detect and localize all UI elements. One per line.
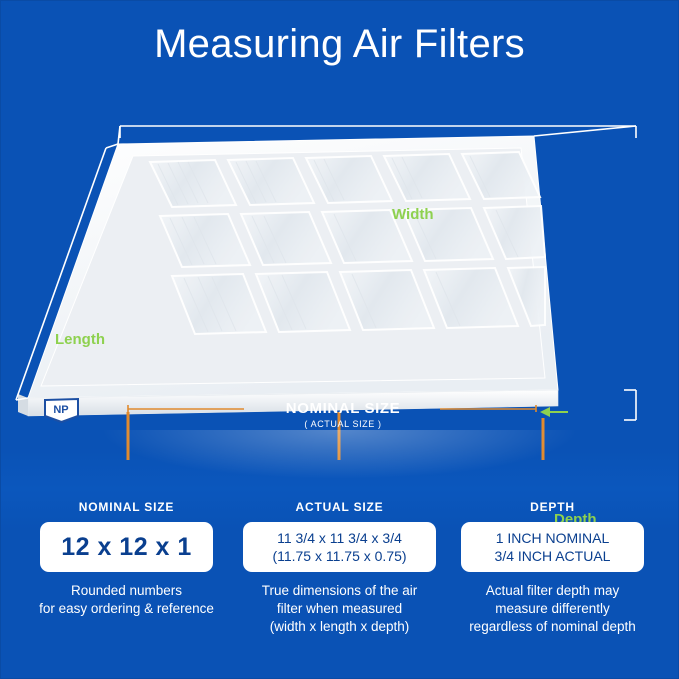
column-desc-line2: for easy ordering & reference <box>20 600 233 618</box>
filter-illustration: NP <box>0 100 679 430</box>
nominal-size-band: NOMINAL SIZE ( ACTUAL SIZE ) <box>243 400 443 429</box>
np-logo-icon: NP <box>45 399 78 422</box>
column-description: Rounded numbers for easy ordering & refe… <box>20 582 233 618</box>
column-heading: DEPTH <box>446 500 659 514</box>
column-description: Actual filter depth may measure differen… <box>446 582 659 636</box>
column-desc-line1: Actual filter depth may <box>446 582 659 600</box>
column-desc-line1: Rounded numbers <box>20 582 233 600</box>
column-desc-line3: regardless of nominal depth <box>446 618 659 636</box>
nominal-size-band-subtitle: ( ACTUAL SIZE ) <box>243 419 443 429</box>
column-desc-line1: True dimensions of the air <box>233 582 446 600</box>
filter-body <box>18 136 558 416</box>
column-value-box: 12 x 12 x 1 <box>40 522 213 572</box>
label-length: Length <box>55 331 105 348</box>
column-value-box: 11 3/4 x 11 3/4 x 3/4 (11.75 x 11.75 x 0… <box>243 522 436 572</box>
column-desc-line2: measure differently <box>446 600 659 618</box>
column-desc-line2: filter when measured <box>233 600 446 618</box>
column-value-line2: (11.75 x 11.75 x 0.75) <box>272 547 406 565</box>
column-value-line1: 11 3/4 x 11 3/4 x 3/4 <box>277 529 402 547</box>
column-depth: DEPTH 1 INCH NOMINAL 3/4 INCH ACTUAL Act… <box>446 500 659 636</box>
bottom-columns: NOMINAL SIZE 12 x 12 x 1 Rounded numbers… <box>0 500 679 679</box>
infographic-root: Measuring Air Filters <box>0 0 679 679</box>
column-value-line2: 3/4 INCH ACTUAL <box>495 547 611 565</box>
column-value-line1: 1 INCH NOMINAL <box>496 529 610 547</box>
column-heading: ACTUAL SIZE <box>233 500 446 514</box>
svg-text:NP: NP <box>53 404 68 416</box>
column-actual-size: ACTUAL SIZE 11 3/4 x 11 3/4 x 3/4 (11.75… <box>233 500 446 636</box>
column-value-line1: 12 x 12 x 1 <box>61 533 192 562</box>
depth-dimension-bracket <box>624 390 636 420</box>
column-nominal-size: NOMINAL SIZE 12 x 12 x 1 Rounded numbers… <box>20 500 233 618</box>
nominal-size-band-title: NOMINAL SIZE <box>243 400 443 417</box>
page-title: Measuring Air Filters <box>0 22 679 67</box>
column-desc-line3: (width x length x depth) <box>233 618 446 636</box>
label-width: Width <box>392 206 434 223</box>
depth-arrow-icon <box>540 407 568 417</box>
column-heading: NOMINAL SIZE <box>20 500 233 514</box>
column-description: True dimensions of the air filter when m… <box>233 582 446 636</box>
column-value-box: 1 INCH NOMINAL 3/4 INCH ACTUAL <box>461 522 644 572</box>
